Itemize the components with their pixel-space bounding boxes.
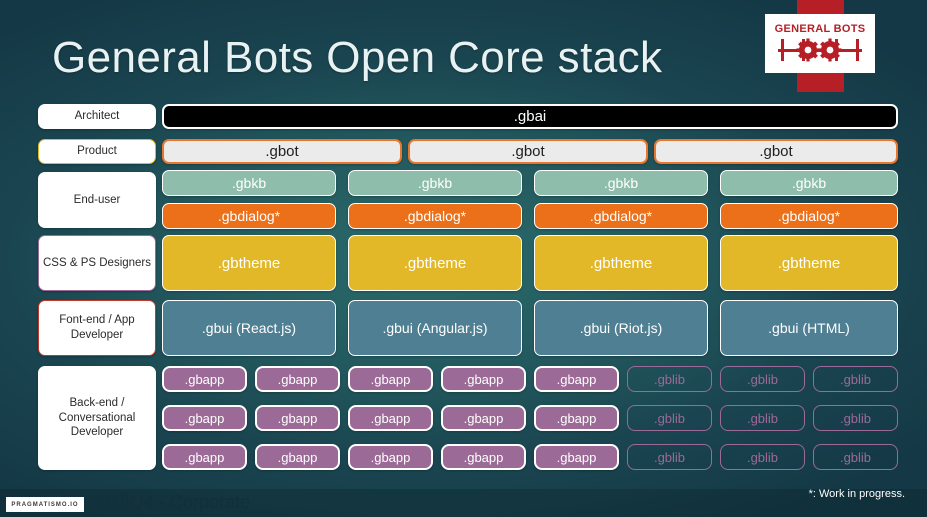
role-label-frontend-app-developer: Font-end / App Developer: [38, 300, 156, 356]
layer-label: .gbapp: [464, 450, 504, 465]
layer-gbapp-r3c2[interactable]: .gbapp: [255, 444, 340, 470]
layer-gbai[interactable]: .gbai: [162, 104, 898, 129]
layer-gbapp-r1c2[interactable]: .gbapp: [255, 366, 340, 392]
layer-gbdialog-1[interactable]: .gbdialog*: [162, 203, 336, 229]
layer-gbtheme-2[interactable]: .gbtheme: [348, 235, 522, 291]
footer-caption: 2018Q4 - Corporate: [90, 492, 250, 513]
layer-gblib-r3c2[interactable]: .gblib: [720, 444, 805, 470]
layer-label: .gbui (Angular.js): [382, 320, 487, 336]
layer-label: .gbtheme: [778, 255, 841, 272]
layer-label: .gbapp: [464, 372, 504, 387]
layer-gbapp-r1c3[interactable]: .gbapp: [348, 366, 433, 392]
layer-gbtheme-3[interactable]: .gbtheme: [534, 235, 708, 291]
layer-label: .gbai: [514, 108, 547, 125]
layer-gbapp-r2c1[interactable]: .gbapp: [162, 405, 247, 431]
layer-gbkb-3[interactable]: .gbkb: [534, 170, 708, 196]
layer-label: .gbtheme: [404, 255, 467, 272]
layer-gbot-2[interactable]: .gbot: [408, 139, 648, 164]
layer-gbkb-2[interactable]: .gbkb: [348, 170, 522, 196]
layer-label: .gbdialog*: [218, 208, 280, 224]
layer-label: .gblib: [747, 372, 778, 387]
layer-gbui-angular[interactable]: .gbui (Angular.js): [348, 300, 522, 356]
layer-gbapp-r3c3[interactable]: .gbapp: [348, 444, 433, 470]
layer-gblib-r2c1[interactable]: .gblib: [627, 405, 712, 431]
layer-gbkb-1[interactable]: .gbkb: [162, 170, 336, 196]
layer-gbui-react[interactable]: .gbui (React.js): [162, 300, 336, 356]
layer-gbapp-r2c3[interactable]: .gbapp: [348, 405, 433, 431]
layer-label: .gbapp: [371, 372, 411, 387]
layer-label: .gbui (React.js): [202, 320, 296, 336]
layer-label: .gblib: [840, 450, 871, 465]
layer-label: .gbapp: [371, 411, 411, 426]
brand-logo: GENERAL BOTS: [765, 14, 875, 73]
layer-label: .gblib: [654, 411, 685, 426]
layer-label: .gbkb: [418, 175, 452, 191]
layer-label: .gbkb: [604, 175, 638, 191]
role-text: Back-end / Conversational Developer: [43, 396, 151, 440]
role-label-product: Product: [38, 139, 156, 164]
layer-label: .gblib: [840, 411, 871, 426]
pragmatismo-logo: PRAGMATISMO.IO: [6, 497, 84, 512]
role-text: Product: [77, 144, 117, 159]
layer-label: .gblib: [654, 450, 685, 465]
layer-gbapp-r1c1[interactable]: .gbapp: [162, 366, 247, 392]
layer-gbapp-r3c4[interactable]: .gbapp: [441, 444, 526, 470]
layer-gbapp-r2c5[interactable]: .gbapp: [534, 405, 619, 431]
layer-label: .gbot: [511, 143, 544, 160]
role-label-architect: Architect: [38, 104, 156, 129]
layer-gbtheme-4[interactable]: .gbtheme: [720, 235, 898, 291]
gears-icon: [778, 37, 862, 63]
layer-label: .gbapp: [371, 450, 411, 465]
layer-gbot-1[interactable]: .gbot: [162, 139, 402, 164]
role-text: Font-end / App Developer: [43, 313, 151, 342]
layer-gbapp-r1c4[interactable]: .gbapp: [441, 366, 526, 392]
layer-label: .gblib: [747, 450, 778, 465]
layer-label: .gblib: [654, 372, 685, 387]
layer-label: .gbot: [759, 143, 792, 160]
layer-label: .gbapp: [557, 372, 597, 387]
layer-gblib-r3c1[interactable]: .gblib: [627, 444, 712, 470]
role-text: CSS & PS Designers: [43, 256, 151, 271]
layer-label: .gbot: [265, 143, 298, 160]
role-label-end-user: End-user: [38, 172, 156, 228]
layer-label: .gbapp: [278, 411, 318, 426]
layer-gbui-riot[interactable]: .gbui (Riot.js): [534, 300, 708, 356]
brand-logo-text: GENERAL BOTS: [775, 24, 866, 35]
layer-gbapp-r2c2[interactable]: .gbapp: [255, 405, 340, 431]
layer-label: .gbapp: [557, 450, 597, 465]
role-text: Architect: [75, 109, 120, 124]
layer-label: .gbapp: [464, 411, 504, 426]
layer-label: .gbdialog*: [778, 208, 840, 224]
layer-label: .gbdialog*: [590, 208, 652, 224]
layer-gbdialog-2[interactable]: .gbdialog*: [348, 203, 522, 229]
layer-gbdialog-4[interactable]: .gbdialog*: [720, 203, 898, 229]
layer-gblib-r3c3[interactable]: .gblib: [813, 444, 898, 470]
layer-gblib-r1c2[interactable]: .gblib: [720, 366, 805, 392]
layer-gbapp-r1c5[interactable]: .gbapp: [534, 366, 619, 392]
layer-label: .gbtheme: [590, 255, 653, 272]
layer-gbui-html[interactable]: .gbui (HTML): [720, 300, 898, 356]
layer-gbapp-r3c1[interactable]: .gbapp: [162, 444, 247, 470]
pragmatismo-logo-text: PRAGMATISMO.IO: [11, 502, 78, 508]
layer-label: .gbdialog*: [404, 208, 466, 224]
layer-gbtheme-1[interactable]: .gbtheme: [162, 235, 336, 291]
layer-gbapp-r3c5[interactable]: .gbapp: [534, 444, 619, 470]
layer-label: .gbtheme: [218, 255, 281, 272]
page-title: General Bots Open Core stack: [52, 33, 662, 83]
slide-canvas: GENERAL BOTS: [0, 0, 927, 517]
layer-gbdialog-3[interactable]: .gbdialog*: [534, 203, 708, 229]
work-in-progress-note: *: Work in progress.: [809, 488, 905, 500]
role-label-backend-conversational-developer: Back-end / Conversational Developer: [38, 366, 156, 470]
layer-gblib-r2c2[interactable]: .gblib: [720, 405, 805, 431]
layer-label: .gbapp: [185, 450, 225, 465]
layer-label: .gbapp: [185, 411, 225, 426]
layer-label: .gbui (Riot.js): [580, 320, 662, 336]
layer-label: .gbkb: [232, 175, 266, 191]
layer-label: .gbui (HTML): [768, 320, 850, 336]
layer-label: .gbapp: [185, 372, 225, 387]
layer-gblib-r1c1[interactable]: .gblib: [627, 366, 712, 392]
layer-label: .gbapp: [557, 411, 597, 426]
layer-gblib-r2c3[interactable]: .gblib: [813, 405, 898, 431]
layer-label: .gbkb: [792, 175, 826, 191]
layer-gbkb-4[interactable]: .gbkb: [720, 170, 898, 196]
role-text: End-user: [74, 193, 121, 208]
layer-label: .gbapp: [278, 372, 318, 387]
layer-label: .gblib: [747, 411, 778, 426]
layer-gbapp-r2c4[interactable]: .gbapp: [441, 405, 526, 431]
layer-label: .gbapp: [278, 450, 318, 465]
role-label-css-ps-designers: CSS & PS Designers: [38, 235, 156, 291]
layer-gblib-r1c3[interactable]: .gblib: [813, 366, 898, 392]
layer-gbot-3[interactable]: .gbot: [654, 139, 898, 164]
layer-label: .gblib: [840, 372, 871, 387]
